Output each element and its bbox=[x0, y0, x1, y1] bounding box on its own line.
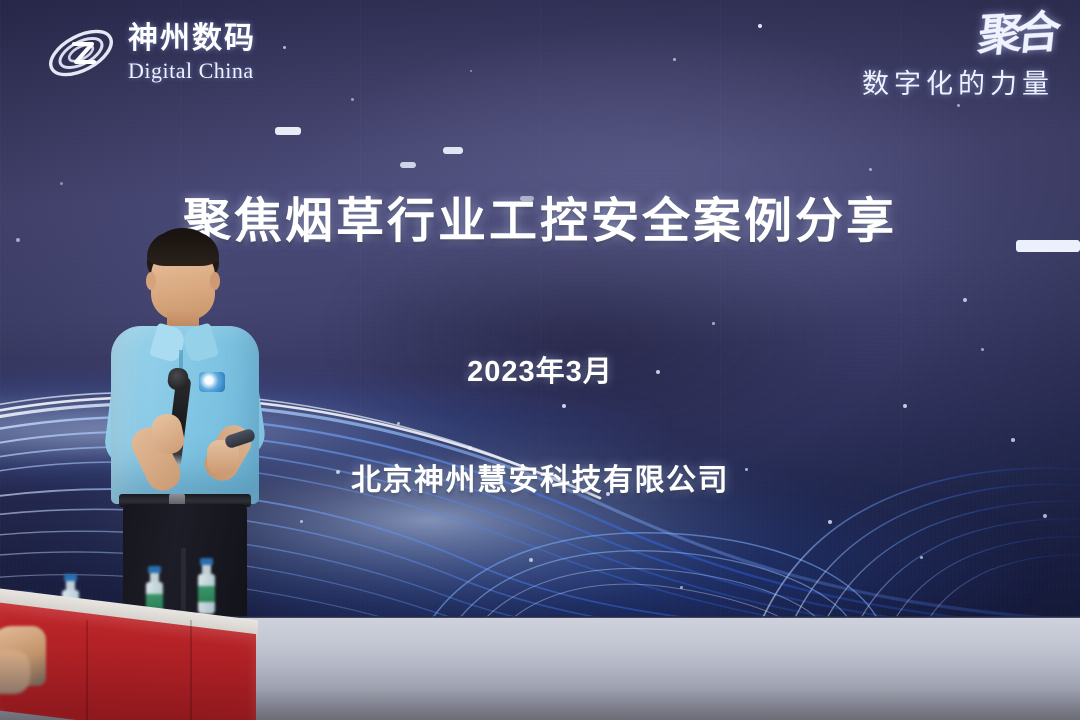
cloth-fold bbox=[86, 620, 88, 720]
particle bbox=[351, 98, 354, 101]
bottle-cap bbox=[148, 566, 161, 573]
digital-china-logo: 神州数码 Digital China bbox=[44, 22, 256, 84]
particle bbox=[680, 586, 683, 589]
particle bbox=[529, 558, 533, 562]
particle bbox=[300, 520, 303, 523]
particle bbox=[673, 58, 676, 61]
bottle-label bbox=[198, 586, 215, 602]
particle bbox=[828, 520, 832, 524]
speaker-ear-right bbox=[210, 272, 220, 290]
particle bbox=[1011, 438, 1015, 442]
particle bbox=[957, 104, 960, 107]
light-bar bbox=[520, 196, 534, 201]
digital-china-name-en: Digital China bbox=[128, 60, 256, 82]
speaker-ear-left bbox=[146, 272, 156, 290]
particle bbox=[283, 46, 286, 49]
particle bbox=[60, 182, 63, 185]
particle bbox=[981, 348, 984, 351]
light-bar bbox=[400, 162, 416, 168]
particle bbox=[16, 238, 20, 242]
juhe-mark-cn: 聚合 bbox=[859, 13, 1057, 63]
particle bbox=[920, 556, 923, 559]
particle bbox=[903, 404, 907, 408]
bottle-cap bbox=[200, 558, 213, 565]
digital-china-swirl-icon bbox=[44, 22, 118, 84]
bottle-neck bbox=[66, 581, 75, 590]
speaker-hair-front bbox=[147, 232, 219, 266]
particle bbox=[1043, 514, 1047, 518]
particle bbox=[470, 70, 472, 72]
particle bbox=[468, 446, 472, 450]
bottle-neck bbox=[150, 573, 159, 582]
particle bbox=[963, 298, 967, 302]
front-row-attendee-arm bbox=[0, 650, 30, 694]
bottle-body bbox=[198, 574, 215, 614]
water-bottle bbox=[198, 558, 215, 614]
bottle-neck bbox=[202, 565, 211, 574]
particle bbox=[562, 404, 566, 408]
particle bbox=[656, 370, 660, 374]
particle bbox=[745, 468, 748, 471]
juhe-event-logo: 聚合 数字化的力量 bbox=[862, 18, 1054, 101]
digital-china-name-cn: 神州数码 bbox=[128, 24, 256, 54]
speaker-chest-badge-icon bbox=[199, 372, 225, 392]
bottle-cap bbox=[64, 574, 77, 581]
particle bbox=[758, 24, 762, 28]
speaker-person bbox=[95, 228, 280, 620]
light-bar bbox=[275, 127, 301, 135]
particle bbox=[869, 168, 872, 171]
particle bbox=[397, 422, 400, 425]
particle bbox=[336, 470, 340, 474]
light-bar bbox=[443, 147, 463, 154]
particle bbox=[606, 492, 610, 496]
light-bar bbox=[1016, 240, 1080, 252]
conference-photo: 神州数码 Digital China 聚合 数字化的力量 聚焦烟草行业工控安全案… bbox=[0, 0, 1080, 720]
cloth-fold bbox=[190, 620, 192, 720]
juhe-tagline: 数字化的力量 bbox=[862, 62, 1054, 101]
particle bbox=[712, 322, 715, 325]
